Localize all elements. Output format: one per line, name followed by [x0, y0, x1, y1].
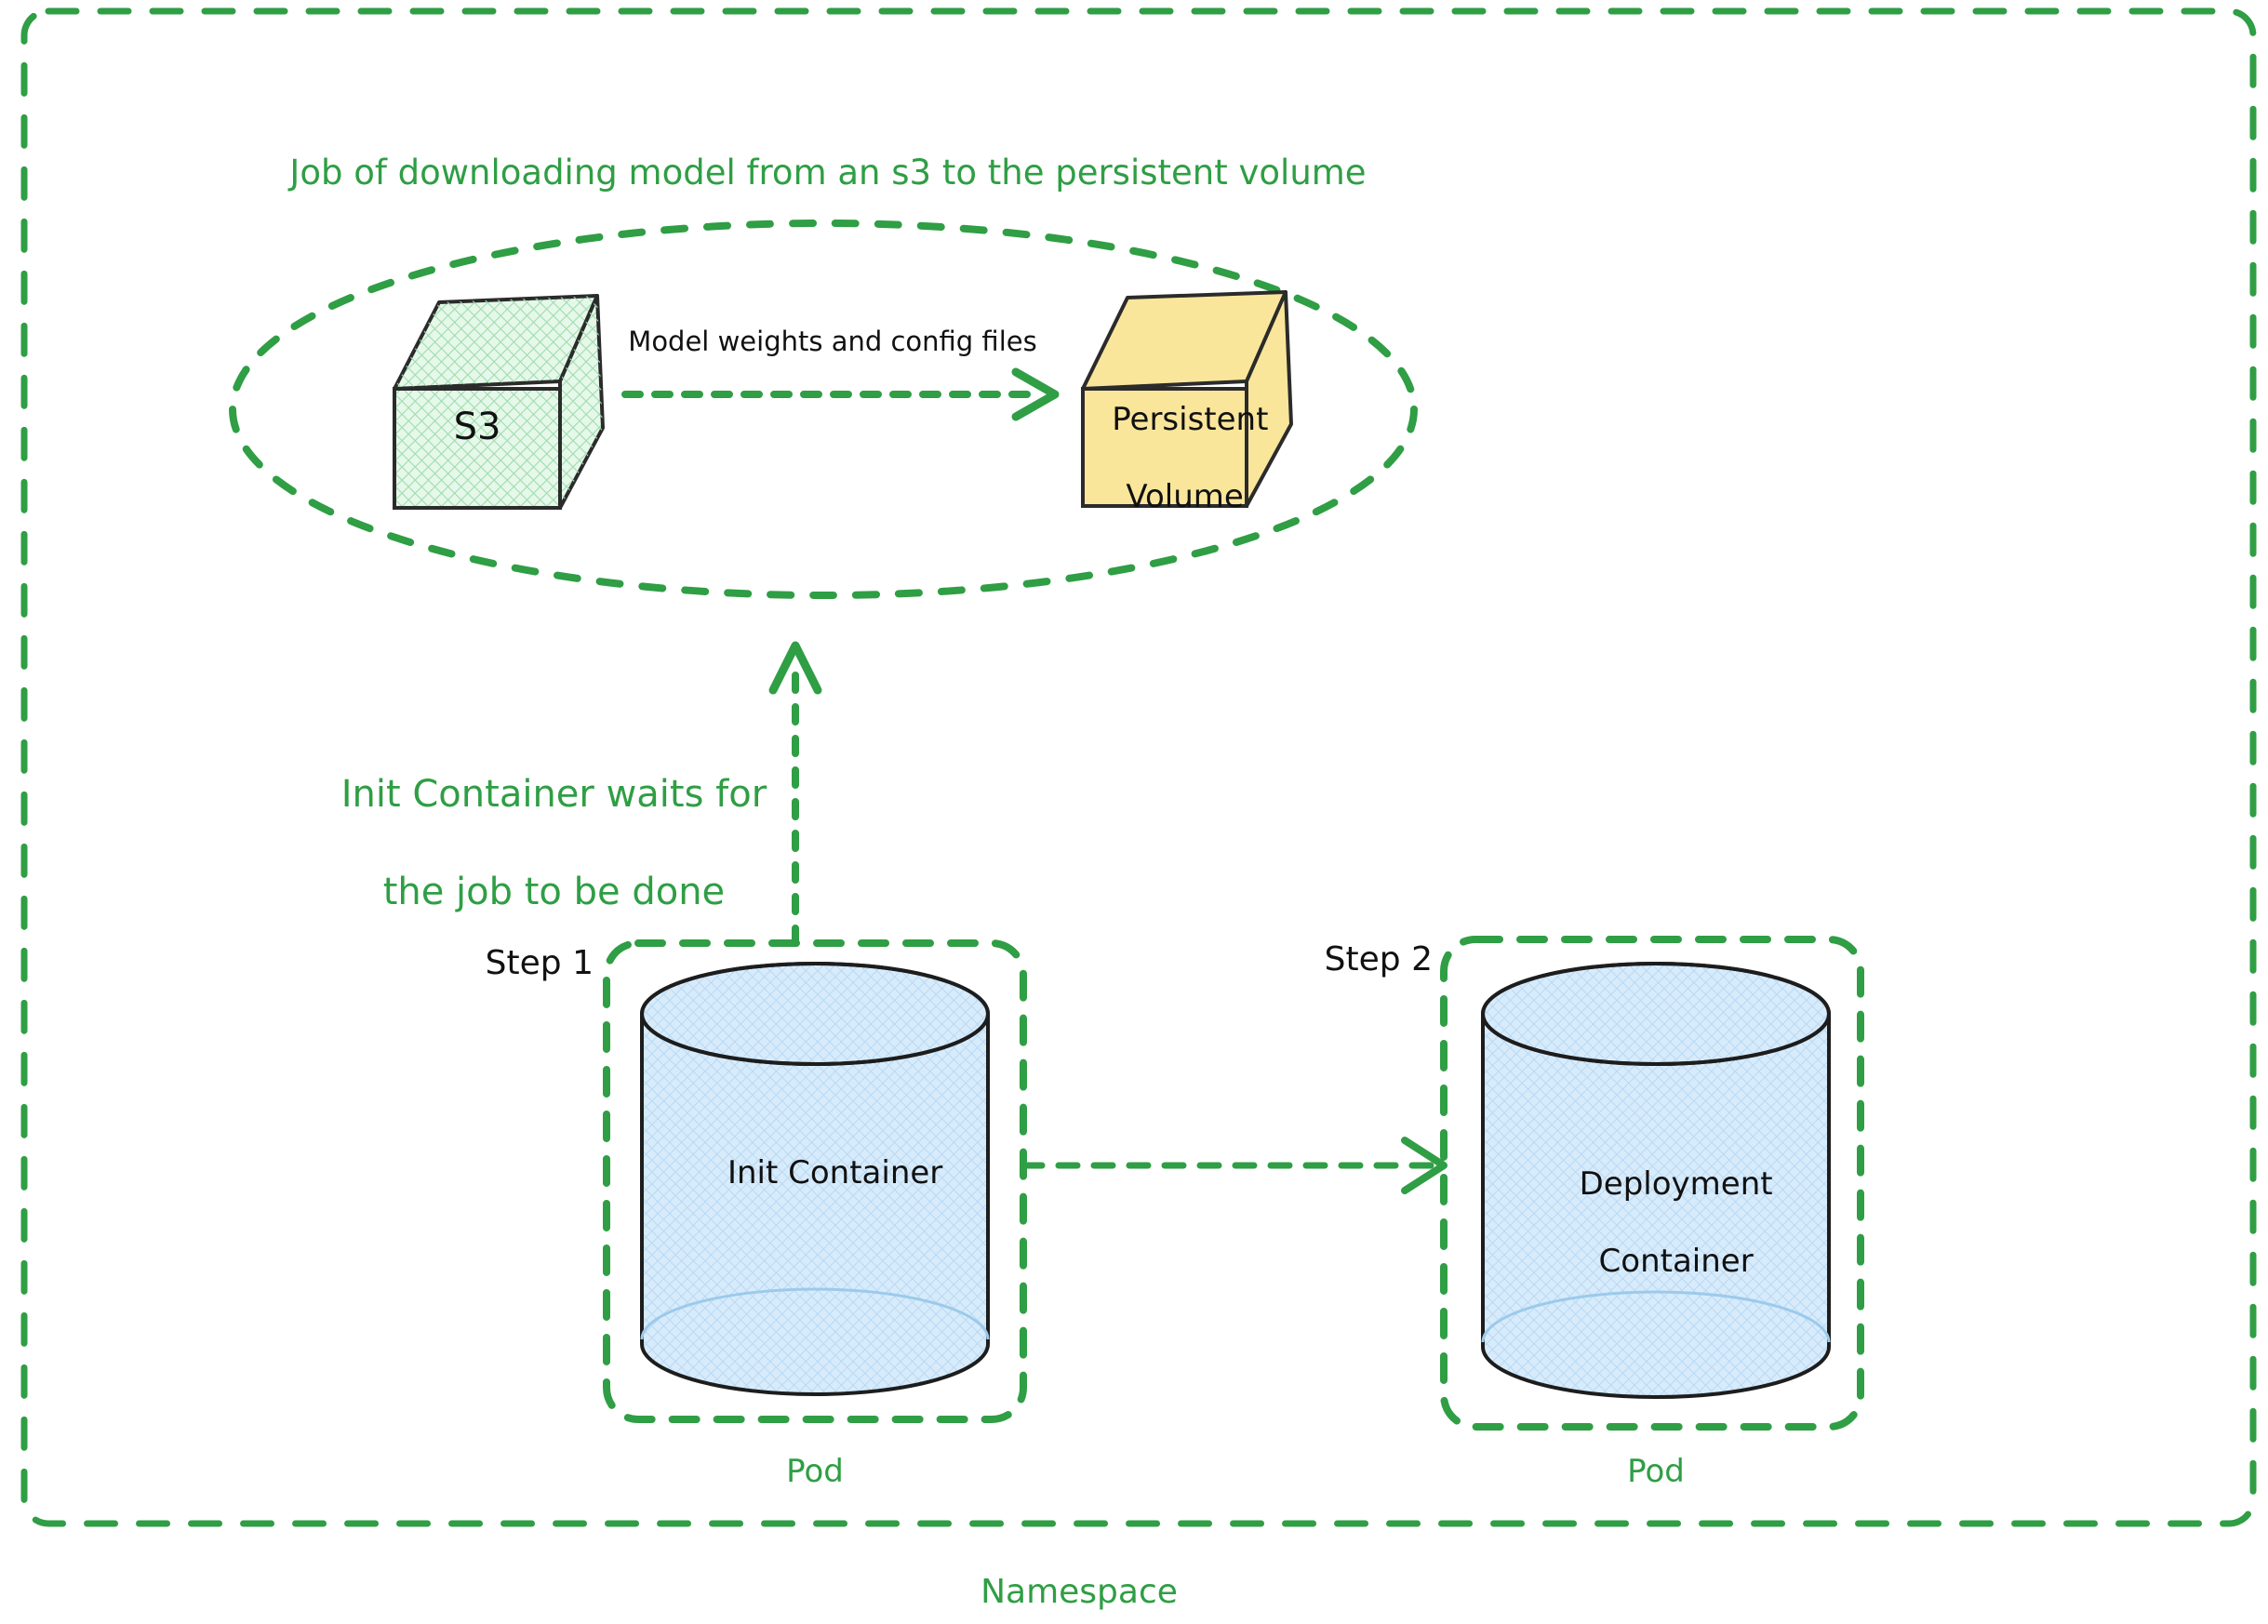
step-transition-arrow — [1023, 1140, 1444, 1191]
init-container-label-line-1: Init Container — [727, 1154, 942, 1191]
step-label-1: Step 1 — [435, 943, 594, 984]
pv-label-line-2: Volume — [1126, 478, 1243, 515]
init-container-label: Init Container — [642, 1116, 988, 1231]
transfer-arrow — [625, 372, 1055, 417]
pod-label-2: Pod — [1483, 1453, 1829, 1491]
wait-label-line-1: Init Container waits for — [341, 773, 767, 816]
pv-label-line-1: Persistent — [1112, 401, 1268, 438]
persistent-volume-node-label: Persistent Volume — [1072, 363, 1258, 555]
deployment-container-label-line-2: Container — [1599, 1243, 1754, 1280]
diagram-canvas: Job of downloading model from an s3 to t… — [0, 0, 2268, 1624]
job-group-title: Job of downloading model from an s3 to t… — [0, 152, 1656, 193]
s3-cube — [394, 296, 603, 508]
namespace-label: Namespace — [0, 1572, 2158, 1613]
s3-node-label: S3 — [394, 405, 560, 450]
deployment-container-label-line-1: Deployment — [1580, 1165, 1773, 1203]
wait-edge-label: Init Container waits for the job to be d… — [270, 721, 791, 966]
deployment-container-label: Deployment Container — [1483, 1127, 1829, 1320]
transfer-edge-label: Model weights and config files — [586, 326, 1079, 358]
pod-label-1: Pod — [642, 1453, 988, 1491]
step-label-2: Step 2 — [1274, 939, 1433, 980]
wait-label-line-2: the job to be done — [383, 871, 725, 913]
